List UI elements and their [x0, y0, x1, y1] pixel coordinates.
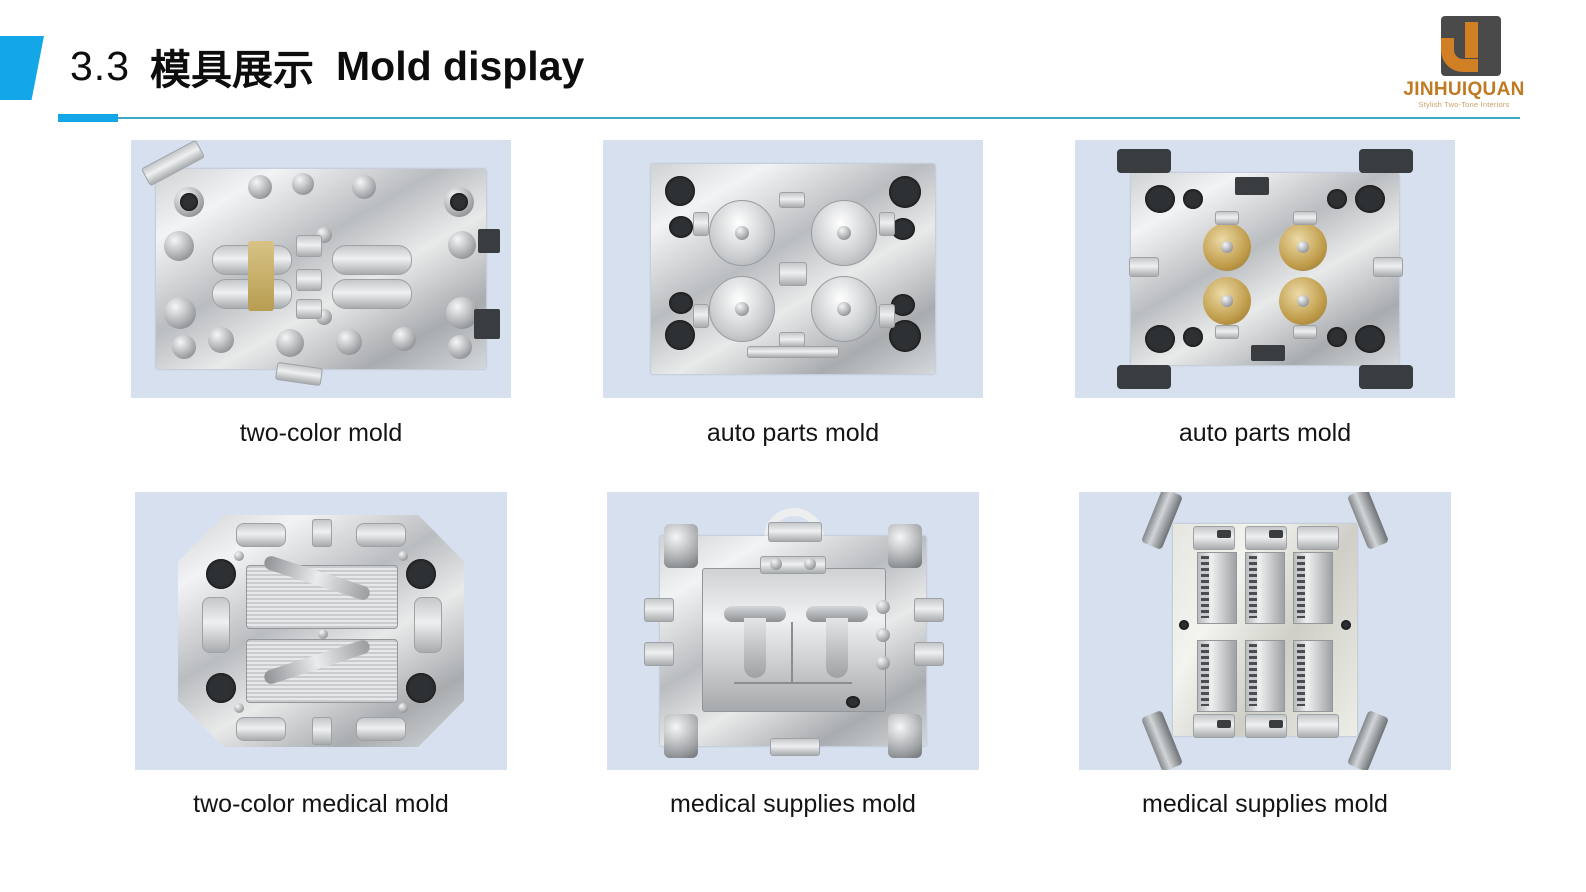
gallery-item-two-color-medical-mold[interactable]: two-color medical mold: [135, 492, 507, 819]
company-logo: JINHUIQUAN Stylish Two-Tone Interiors: [1400, 16, 1528, 114]
header-divider-line: [58, 117, 1520, 119]
gallery-caption: auto parts mold: [1179, 419, 1351, 448]
logo-j-icon: [1427, 16, 1501, 78]
section-number: 3.3: [70, 43, 130, 90]
header-divider-accent: [58, 114, 118, 122]
gallery-caption: auto parts mold: [707, 419, 879, 448]
page-title-chinese: 模具展示: [150, 36, 314, 96]
gallery-caption: two-color medical mold: [193, 790, 449, 819]
gallery-row-2: two-color medical mold: [0, 492, 1586, 819]
two-color-mold-photo[interactable]: [131, 140, 511, 398]
gallery-item-auto-parts-mold-2[interactable]: auto parts mold: [1075, 140, 1455, 448]
gallery-item-two-color-mold[interactable]: two-color mold: [131, 140, 511, 448]
gallery-item-auto-parts-mold-1[interactable]: auto parts mold: [603, 140, 983, 448]
gallery-item-medical-supplies-mold-1[interactable]: medical supplies mold: [607, 492, 979, 819]
auto-parts-mold-photo-1[interactable]: [603, 140, 983, 398]
medical-supplies-mold-photo-1[interactable]: [607, 492, 979, 770]
gallery-caption: two-color mold: [240, 419, 403, 448]
logo-company-name: JINHUIQUAN: [1400, 80, 1528, 99]
page-title-english: Mold display: [336, 43, 584, 90]
gallery-row-1: two-color mold: [0, 140, 1586, 448]
mold-gallery: two-color mold: [0, 140, 1586, 819]
auto-parts-mold-photo-2[interactable]: [1075, 140, 1455, 398]
title-accent-shape: [0, 36, 44, 100]
gallery-caption: medical supplies mold: [1142, 790, 1388, 819]
medical-supplies-mold-photo-2[interactable]: [1079, 492, 1451, 770]
header-divider: [58, 114, 1520, 122]
gallery-caption: medical supplies mold: [670, 790, 916, 819]
two-color-medical-mold-photo[interactable]: [135, 492, 507, 770]
logo-tagline: Stylish Two-Tone Interiors: [1400, 101, 1528, 109]
gallery-item-medical-supplies-mold-2[interactable]: medical supplies mold: [1079, 492, 1451, 819]
page-title: 3.3 模具展示 Mold display: [70, 34, 584, 98]
